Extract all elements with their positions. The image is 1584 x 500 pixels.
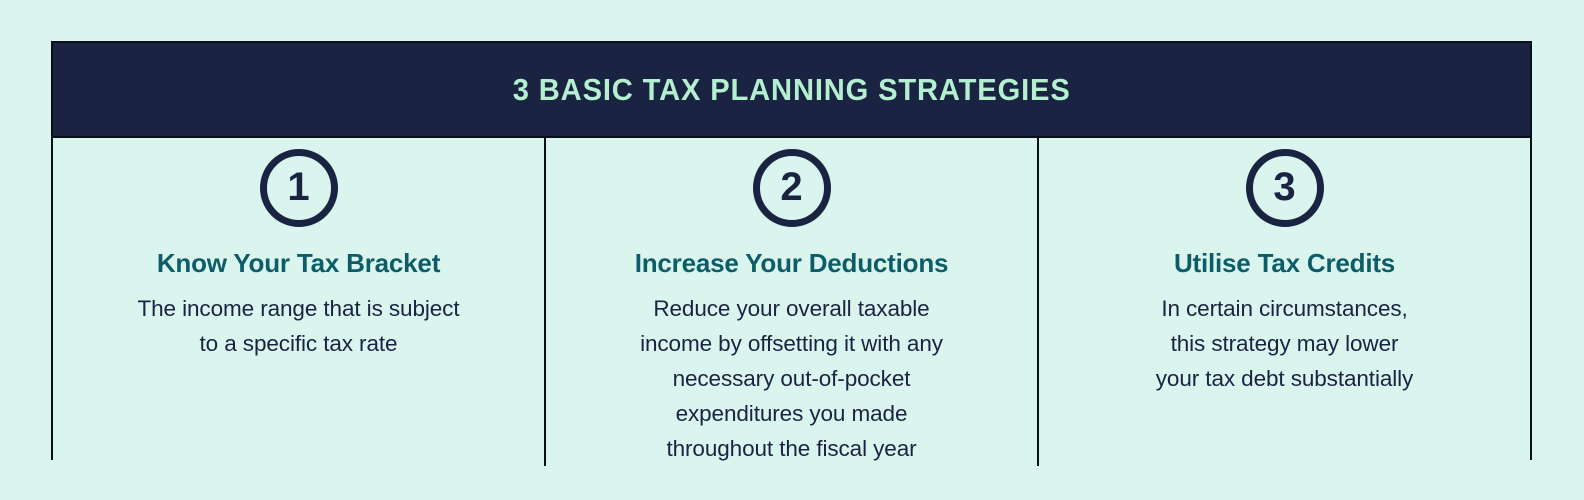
strategy-heading-2: Increase Your Deductions: [635, 249, 949, 278]
strategy-column-3: 3 Utilise Tax Credits In certain circums…: [1037, 138, 1530, 466]
infographic-header-band: 3 BASIC TAX PLANNING STRATEGIES: [53, 43, 1530, 138]
body-line: income by offsetting it with any: [640, 326, 943, 361]
body-line: this strategy may lower: [1156, 326, 1413, 361]
body-line: expenditures you made: [640, 396, 943, 431]
strategy-heading-1: Know Your Tax Bracket: [157, 249, 440, 278]
strategy-heading-3: Utilise Tax Credits: [1174, 249, 1395, 278]
body-line: In certain circumstances,: [1156, 291, 1413, 326]
strategy-body-1: The income range that is subject to a sp…: [138, 291, 460, 361]
page-title: 3 BASIC TAX PLANNING STRATEGIES: [513, 74, 1071, 105]
body-line: your tax debt substantially: [1156, 361, 1413, 396]
circled-number-three-icon: 3: [1246, 149, 1324, 227]
body-line: Reduce your overall taxable: [640, 291, 943, 326]
badge-number-label: 1: [287, 167, 309, 207]
body-line: throughout the fiscal year: [640, 431, 943, 466]
strategy-column-2: 2 Increase Your Deductions Reduce your o…: [544, 138, 1037, 466]
body-line: to a specific tax rate: [138, 326, 460, 361]
tax-planning-infographic: 3 BASIC TAX PLANNING STRATEGIES 1 Know Y…: [51, 41, 1532, 460]
strategy-body-3: In certain circumstances, this strategy …: [1156, 291, 1413, 396]
circled-number-two-icon: 2: [753, 149, 831, 227]
badge-number-label: 2: [780, 167, 802, 207]
body-line: The income range that is subject: [138, 291, 460, 326]
strategy-columns: 1 Know Your Tax Bracket The income range…: [53, 138, 1530, 466]
badge-number-label: 3: [1273, 167, 1295, 207]
strategy-body-2: Reduce your overall taxable income by of…: [640, 291, 943, 466]
body-line: necessary out-of-pocket: [640, 361, 943, 396]
strategy-column-1: 1 Know Your Tax Bracket The income range…: [53, 138, 544, 466]
circled-number-one-icon: 1: [260, 149, 338, 227]
